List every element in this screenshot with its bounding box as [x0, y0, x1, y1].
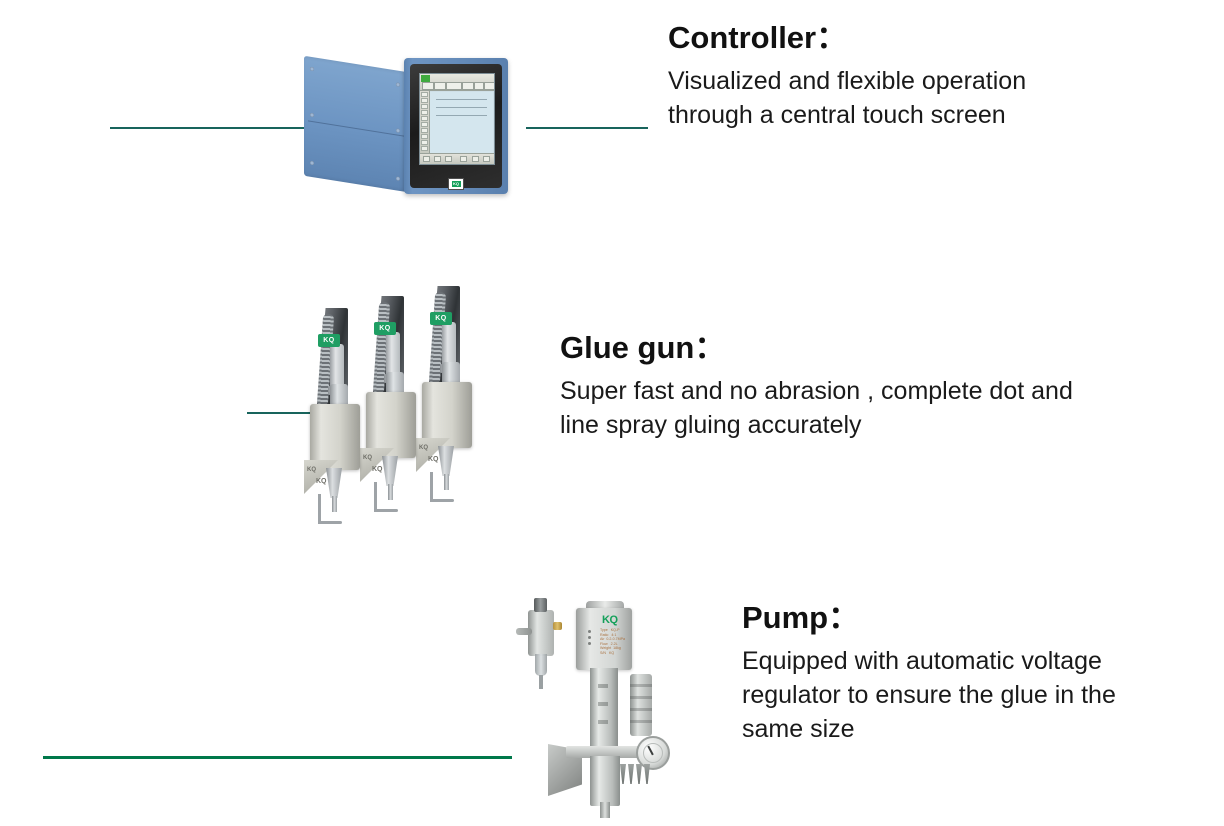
pump-valve-manifold — [620, 764, 654, 784]
glue-gun-brand-badge: KQ — [430, 312, 452, 325]
pump-brass-fitting — [553, 622, 562, 630]
screen-side-button-column[interactable] — [420, 91, 430, 154]
controller-description: Visualized and flexible operation throug… — [668, 64, 1108, 132]
pump-pressure-regulator — [630, 674, 652, 736]
pump-brand-badge: KQ — [602, 614, 618, 626]
glue-gun-section: KQ KQ KQ KQ KQ KQ KQ KQ KQ Glue gun： Sup… — [0, 280, 1224, 530]
glue-gun-unit: KQ KQ KQ — [416, 286, 478, 491]
glue-gun-device-image: KQ KQ KQ KQ KQ KQ KQ KQ KQ — [298, 286, 528, 514]
glue-gun-heading: Glue gun： — [560, 330, 1080, 366]
pump-heading: Pump： — [742, 600, 1162, 636]
controller-heading: Controller： — [668, 20, 1108, 56]
screen-toolbar — [420, 74, 494, 91]
pump-device-image: KQ Type KQ-PRatio 4:1Air 0.2-0.7MPaFlow … — [508, 596, 688, 812]
controller-touch-screen[interactable] — [419, 73, 495, 165]
glue-gun-brand-badge: KQ — [374, 322, 396, 335]
controller-right-connector-line — [526, 127, 648, 129]
pump-text-block: Pump： Equipped with automatic voltage re… — [742, 600, 1162, 746]
glue-gun-brand-badge: KQ — [318, 334, 340, 347]
controller-brand-badge: KQ — [448, 178, 464, 190]
glue-gun-unit: KQ KQ KQ — [360, 296, 422, 501]
screen-status-indicator — [421, 75, 430, 82]
pump-upper-barrel — [590, 668, 618, 750]
pump-lower-barrel — [590, 756, 620, 806]
controller-side-panel — [304, 56, 408, 192]
controller-section: KQ Controller： Visualized and flexible o… — [0, 0, 1224, 270]
pump-section: KQ Type KQ-PRatio 4:1Air 0.2-0.7MPaFlow … — [0, 560, 1224, 826]
glue-gun-unit: KQ KQ KQ — [304, 308, 366, 513]
controller-text-block: Controller： Visualized and flexible oper… — [668, 20, 1108, 132]
screen-status-bar — [420, 153, 494, 164]
controller-left-connector-line — [110, 127, 306, 129]
pump-main-body: KQ Type KQ-PRatio 4:1Air 0.2-0.7MPaFlow … — [576, 608, 632, 670]
glue-gun-description: Super fast and no abrasion , complete do… — [560, 374, 1080, 442]
pump-outlet-nozzle — [600, 802, 610, 818]
pump-filter-regulator — [528, 610, 554, 656]
controller-screen-bezel — [410, 64, 502, 188]
glue-gun-text-block: Glue gun： Super fast and no abrasion , c… — [560, 330, 1080, 442]
pump-description: Equipped with automatic voltage regulato… — [742, 644, 1162, 746]
controller-front-panel: KQ — [404, 58, 508, 194]
controller-device-image: KQ — [304, 58, 508, 194]
pump-connector-line — [43, 756, 512, 759]
screen-content-area — [430, 92, 493, 154]
